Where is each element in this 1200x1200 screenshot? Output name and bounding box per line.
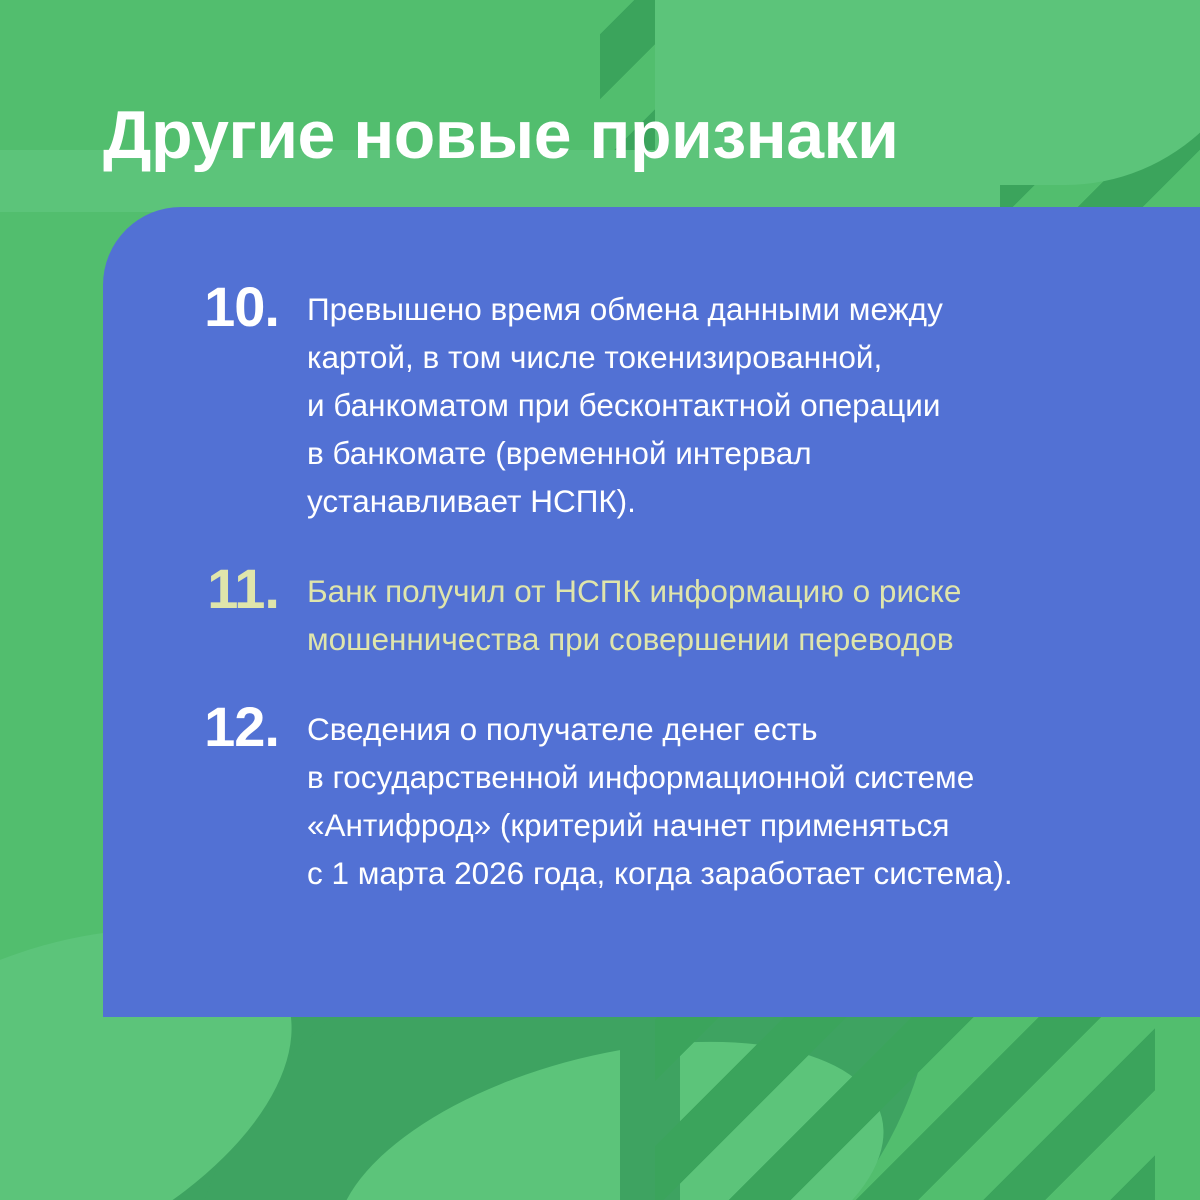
poster-canvas: Другие новые признаки 10. Превышено врем…: [0, 0, 1200, 1200]
page-title: Другие новые признаки: [103, 98, 898, 173]
list-item: 12. Сведения о получателе денег есть в г…: [155, 705, 1160, 897]
list-item: 11. Банк получил от НСПК информацию о ри…: [155, 567, 1160, 663]
list-item-text: Сведения о получателе денег есть в госуд…: [307, 705, 1160, 897]
feature-list-card: 10. Превышено время обмена данными между…: [103, 207, 1200, 1017]
list-item-number: 10.: [155, 279, 307, 335]
list-item-text: Банк получил от НСПК информацию о риске …: [307, 567, 1160, 663]
list-item-number: 11.: [155, 561, 307, 617]
leaf-shape-bottom-center-light: [307, 991, 913, 1200]
leaf-shape-bottom-divider: [620, 990, 680, 1200]
bottom-right-corner-fill: [1155, 1015, 1200, 1200]
list-item: 10. Превышено время обмена данными между…: [155, 285, 1160, 525]
list-item-text: Превышено время обмена данными между кар…: [307, 285, 1160, 525]
list-item-number: 12.: [155, 699, 307, 755]
diagonal-stripes-bottom-shape: [655, 1015, 1200, 1200]
